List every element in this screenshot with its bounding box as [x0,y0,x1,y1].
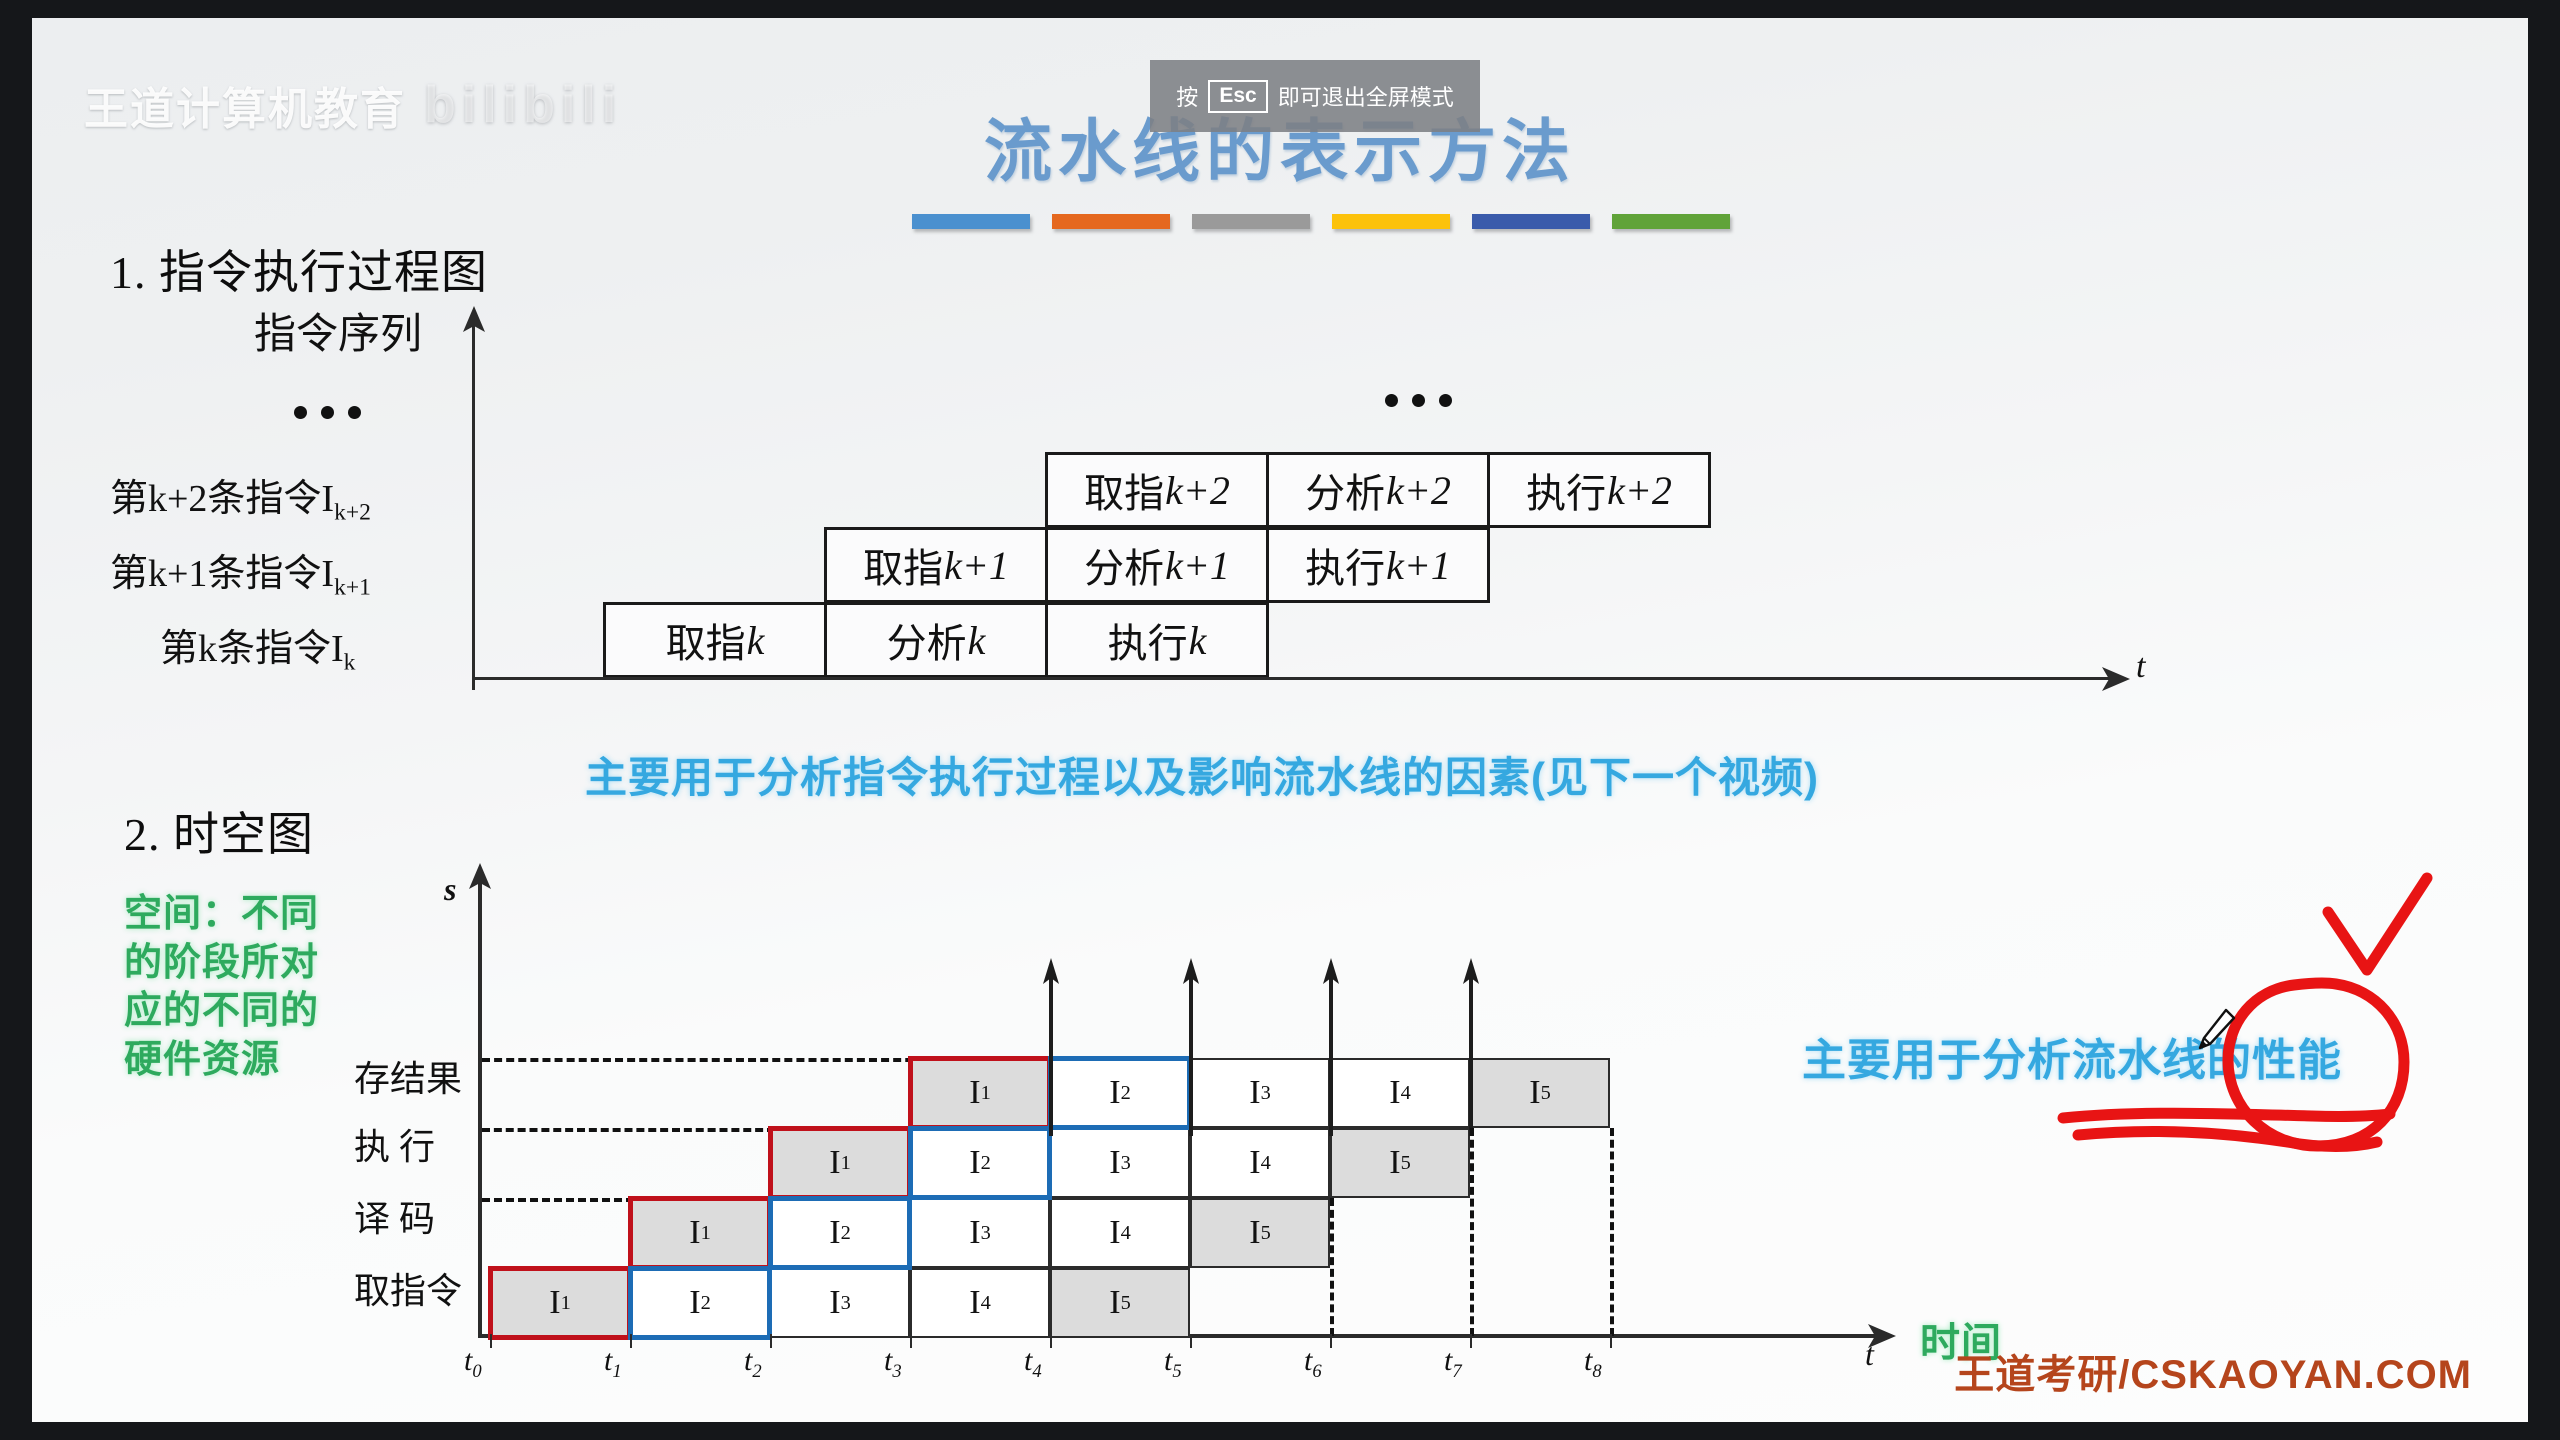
row-label-k-text: 第k条指令I [160,628,344,670]
cell-text: 执行 [1526,461,1606,519]
cell-suffix: k [967,617,986,664]
stage-label-decode: 译 码 [354,1190,435,1242]
tick-t3 [910,1334,912,1348]
underline-annotation-1 [2063,1113,2390,1118]
accent-bar-3 [1192,214,1310,229]
cell-text: 取指 [666,611,746,669]
highlight-I1-store [908,1056,1052,1130]
row-label-k2-text: 第k+2条指令I [110,478,334,520]
title-accent-bars [912,214,1730,229]
cell-store-I5: I5 [1470,1058,1610,1128]
cell-decode-I4: I4 [1050,1198,1190,1268]
section1-x-axis [472,677,2112,680]
section1-ellipsis-left [294,406,361,419]
row-label-k1-text: 第k+1条指令I [110,553,334,595]
cell-text: 分析 [887,611,967,669]
accent-bar-4 [1332,214,1450,229]
tick-label-t8: t8 [1584,1344,1602,1383]
section2-heading: 2. 时空图 [124,798,314,864]
cell-store-I3: I3 [1190,1058,1330,1128]
cell-suffix: k+1 [1164,542,1230,589]
tick-t7 [1470,1334,1472,1348]
highlight-I2-store [1048,1056,1192,1130]
section1-y-axis-label: 指令序列 [254,300,422,361]
section1-cell-fetch-k: 取指k [603,602,827,678]
tick-t1 [630,1334,632,1348]
highlight-I1-decode [628,1196,772,1270]
check-mark-annotation [2328,878,2427,970]
esc-key-badge: Esc [1208,80,1267,113]
sample-arrow-t7 [1460,958,1482,1138]
accent-bar-5 [1472,214,1590,229]
stage-label-execute: 执 行 [354,1118,435,1170]
sample-arrow-t4 [1040,958,1062,1138]
row-label-k-sub: k [344,650,356,676]
cell-suffix: k+2 [1385,467,1451,514]
row-label-k2-sub: k+2 [334,500,371,526]
cell-text: 分析 [1305,461,1385,519]
section1-cell-fetch-k1: 取指k+1 [824,527,1048,603]
section1-cell-exec-k: 执行k [1045,602,1269,678]
section1-row-label-k2: 第k+2条指令Ik+2 [110,467,371,527]
slide-surface: 王道计算机教育 bilibili 按 Esc 即可退出全屏模式 流水线的表示方法… [32,18,2528,1422]
stage-label-store: 存结果 [354,1050,462,1102]
tick-label-t7: t7 [1444,1344,1462,1383]
section1-y-axis [472,318,475,690]
cell-decode-I3: I3 [910,1198,1050,1268]
accent-bar-1 [912,214,1030,229]
tooltip-prefix-text: 按 [1176,80,1198,112]
cell-text: 执行 [1108,611,1188,669]
footer-watermark: 王道考研/CSKAOYAN.COM [1954,1342,2472,1400]
section1-row-label-k1: 第k+1条指令Ik+1 [110,542,371,602]
cell-text: 执行 [1305,536,1385,594]
tick-label-t1: t1 [604,1344,622,1383]
cell-suffix: k+1 [943,542,1009,589]
cell-fetch-I5: I5 [1050,1268,1190,1338]
cell-suffix: k [746,617,765,664]
section2-x-axis-symbol: t [1865,1336,1874,1373]
cell-fetch-I4: I4 [910,1268,1050,1338]
section1-cell-exec-k2: 执行k+2 [1487,452,1711,528]
tick-t4 [1050,1334,1052,1348]
tick-label-t0: t0 [464,1344,482,1383]
section1-row-label-k: 第k条指令Ik [160,617,355,677]
section1-cell-exec-k1: 执行k+1 [1266,527,1490,603]
pencil-cursor [2192,1006,2238,1054]
highlight-I2-execute [908,1126,1052,1200]
section1-ellipsis-chart [1385,394,1452,407]
tick-t6 [1330,1334,1332,1348]
section1-cell-decode-k1: 分析k+1 [1045,527,1269,603]
tick-label-t5: t5 [1164,1344,1182,1383]
cell-suffix: k+2 [1164,467,1230,514]
section1-y-axis-arrowhead [459,306,489,332]
tick-label-t2: t2 [744,1344,762,1383]
sample-arrow-t6 [1320,958,1342,1138]
section1-x-axis-symbol: t [2136,648,2145,686]
drop-line-t6 [1330,1198,1334,1336]
cell-text: 取指 [1084,461,1164,519]
fullscreen-exit-tooltip: 按 Esc 即可退出全屏模式 [1150,60,1480,132]
section2-note: 主要用于分析流水线的性能 [1802,1024,2342,1088]
row-label-k1-sub: k+1 [334,575,371,601]
highlight-I2-decode [768,1196,912,1270]
tick-t8 [1610,1334,1612,1348]
cell-suffix: k+1 [1385,542,1451,589]
screen: 王道计算机教育 bilibili 按 Esc 即可退出全屏模式 流水线的表示方法… [0,0,2560,1440]
section2-y-axis-symbol: s [444,871,456,908]
cell-execute-I3: I3 [1050,1128,1190,1198]
drop-line-t8 [1610,1128,1614,1336]
sample-arrow-t5 [1180,958,1202,1138]
tick-t5 [1190,1334,1192,1348]
cell-execute-I5: I5 [1330,1128,1470,1198]
accent-bar-2 [1052,214,1170,229]
tooltip-suffix-text: 即可退出全屏模式 [1278,80,1454,112]
tick-label-t3: t3 [884,1344,902,1383]
tick-t2 [770,1334,772,1348]
cell-store-I4: I4 [1330,1058,1470,1128]
accent-bar-6 [1612,214,1730,229]
section1-cell-fetch-k2: 取指k+2 [1045,452,1269,528]
tick-label-t6: t6 [1304,1344,1322,1383]
highlight-I2-fetch [628,1266,772,1340]
tick-t0 [490,1334,492,1348]
section2-y-axis-arrowhead [465,863,495,889]
section1-cell-decode-k: 分析k [824,602,1048,678]
cell-decode-I5: I5 [1190,1198,1330,1268]
drop-line-t7 [1470,1128,1474,1336]
cell-execute-I4: I4 [1190,1128,1330,1198]
cell-text: 分析 [1084,536,1164,594]
highlight-I1-fetch [488,1266,632,1340]
stage-label-fetch: 取指令 [354,1262,462,1314]
underline-annotation-2 [2078,1131,2377,1146]
highlight-I1-execute [768,1126,912,1200]
section1-cell-decode-k2: 分析k+2 [1266,452,1490,528]
cell-fetch-I3: I3 [770,1268,910,1338]
section1-x-axis-arrowhead [2100,664,2130,694]
cell-suffix: k [1188,617,1207,664]
section2-space-note: 空间：不同 的阶段所对 应的不同的 硬件资源 [124,890,384,1085]
section2-y-axis [478,876,482,1336]
tick-label-t4: t4 [1024,1344,1042,1383]
section1-heading: 1. 指令执行过程图 [110,236,488,302]
cell-suffix: k+2 [1606,467,1672,514]
section1-note: 主要用于分析指令执行过程以及影响流水线的因素(见下一个视频) [585,744,1819,805]
cell-text: 取指 [863,536,943,594]
